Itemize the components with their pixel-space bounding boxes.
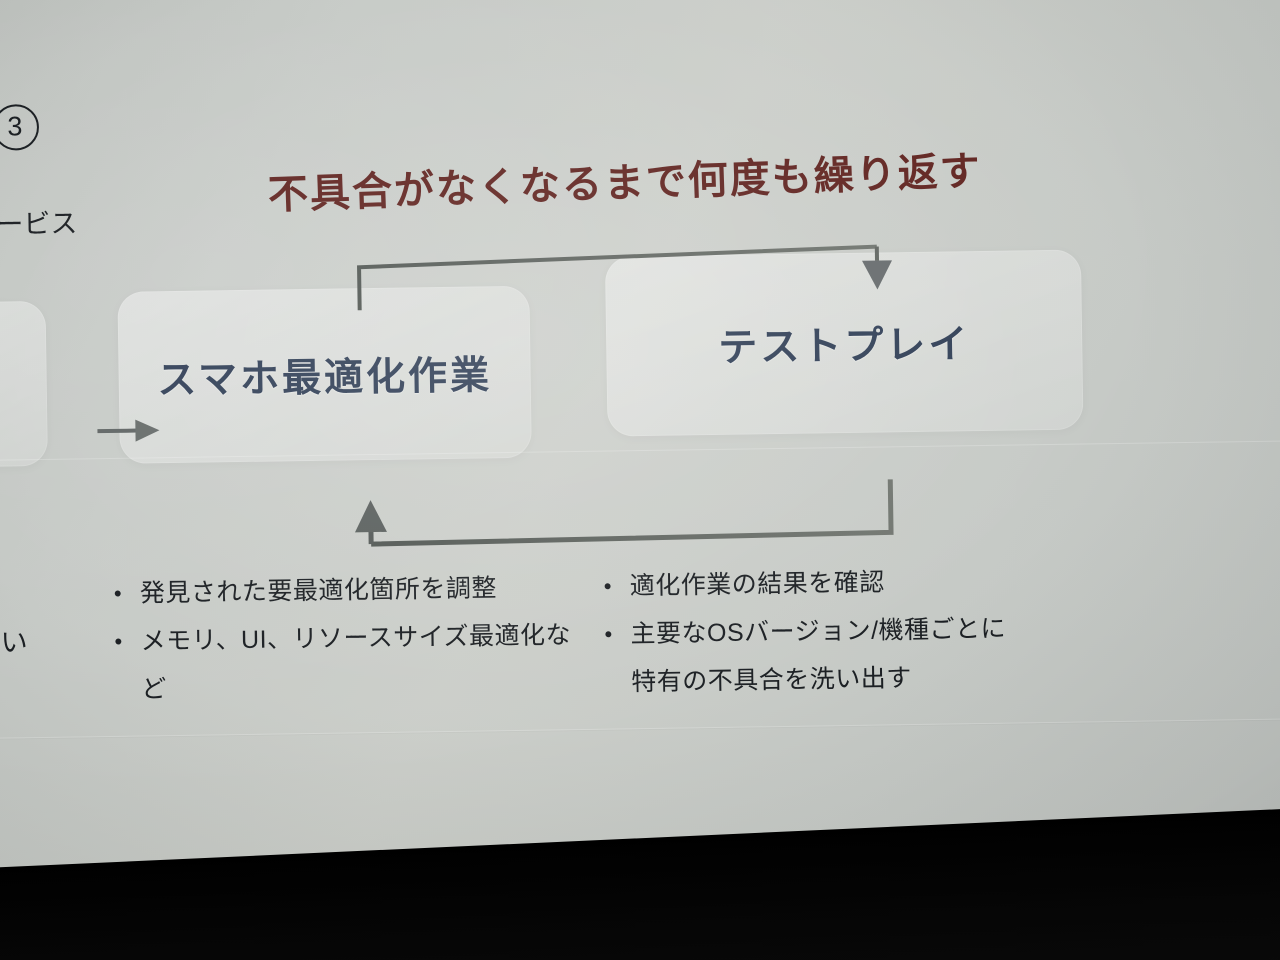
bullet-text: 発見された要最適化箇所を調整 — [140, 564, 498, 617]
bullet-text: 適化作業の結果を確認 — [629, 558, 885, 610]
bullet-marker: • — [114, 570, 141, 618]
arrow-loop-bottom-icon — [354, 479, 891, 544]
bullet-marker: • — [114, 618, 141, 666]
process-box-optimize[interactable]: スマホ最適化作業 — [117, 286, 532, 464]
list-item: • 主要なOSバージョン/機種ごとに特有の不具合を洗い出す — [604, 604, 1065, 707]
bullet-list-testplay: • 適化作業の結果を確認 • 主要なOSバージョン/機種ごとに特有の不具合を洗い… — [603, 556, 1065, 707]
screenshot-root: み3 値サービス さない 不具合がなくなるまで何度も繰り返す ミ スマホ最適化作… — [0, 0, 1280, 960]
slide-content: み3 値サービス さない 不具合がなくなるまで何度も繰り返す ミ スマホ最適化作… — [0, 0, 1280, 960]
edge-label-service: 値サービス — [0, 201, 78, 242]
loop-heading: 不具合がなくなるまで何度も繰り返す — [267, 141, 899, 220]
bullet-text: メモリ、UI、リソースサイズ最適化など — [140, 611, 585, 714]
process-box-testplay-label: テストプレイ — [718, 313, 971, 373]
bullet-text: 主要なOSバージョン/機種ごとに特有の不具合を洗い出す — [630, 604, 1031, 706]
process-box-previous: ミ — [0, 301, 48, 469]
list-item: • 適化作業の結果を確認 — [603, 556, 1064, 611]
bullet-list-optimize: • 発見された要最適化箇所を調整 • メモリ、UI、リソースサイズ最適化など — [114, 563, 586, 714]
bullet-marker: • — [604, 610, 631, 658]
process-box-testplay[interactable]: テストプレイ — [605, 250, 1084, 437]
page-title: み3 — [0, 93, 39, 153]
section-number-badge: 3 — [0, 104, 39, 151]
process-box-optimize-label: スマホ最適化作業 — [157, 344, 493, 405]
flow-connectors — [0, 0, 1280, 960]
bullet-marker: • — [603, 562, 630, 610]
list-item: • 発見された要最適化箇所を調整 — [114, 563, 585, 618]
edge-label-nai: さない — [0, 620, 28, 660]
projection-screen: み3 値サービス さない 不具合がなくなるまで何度も繰り返す ミ スマホ最適化作… — [0, 0, 1280, 960]
list-item: • メモリ、UI、リソースサイズ最適化など — [114, 611, 585, 714]
